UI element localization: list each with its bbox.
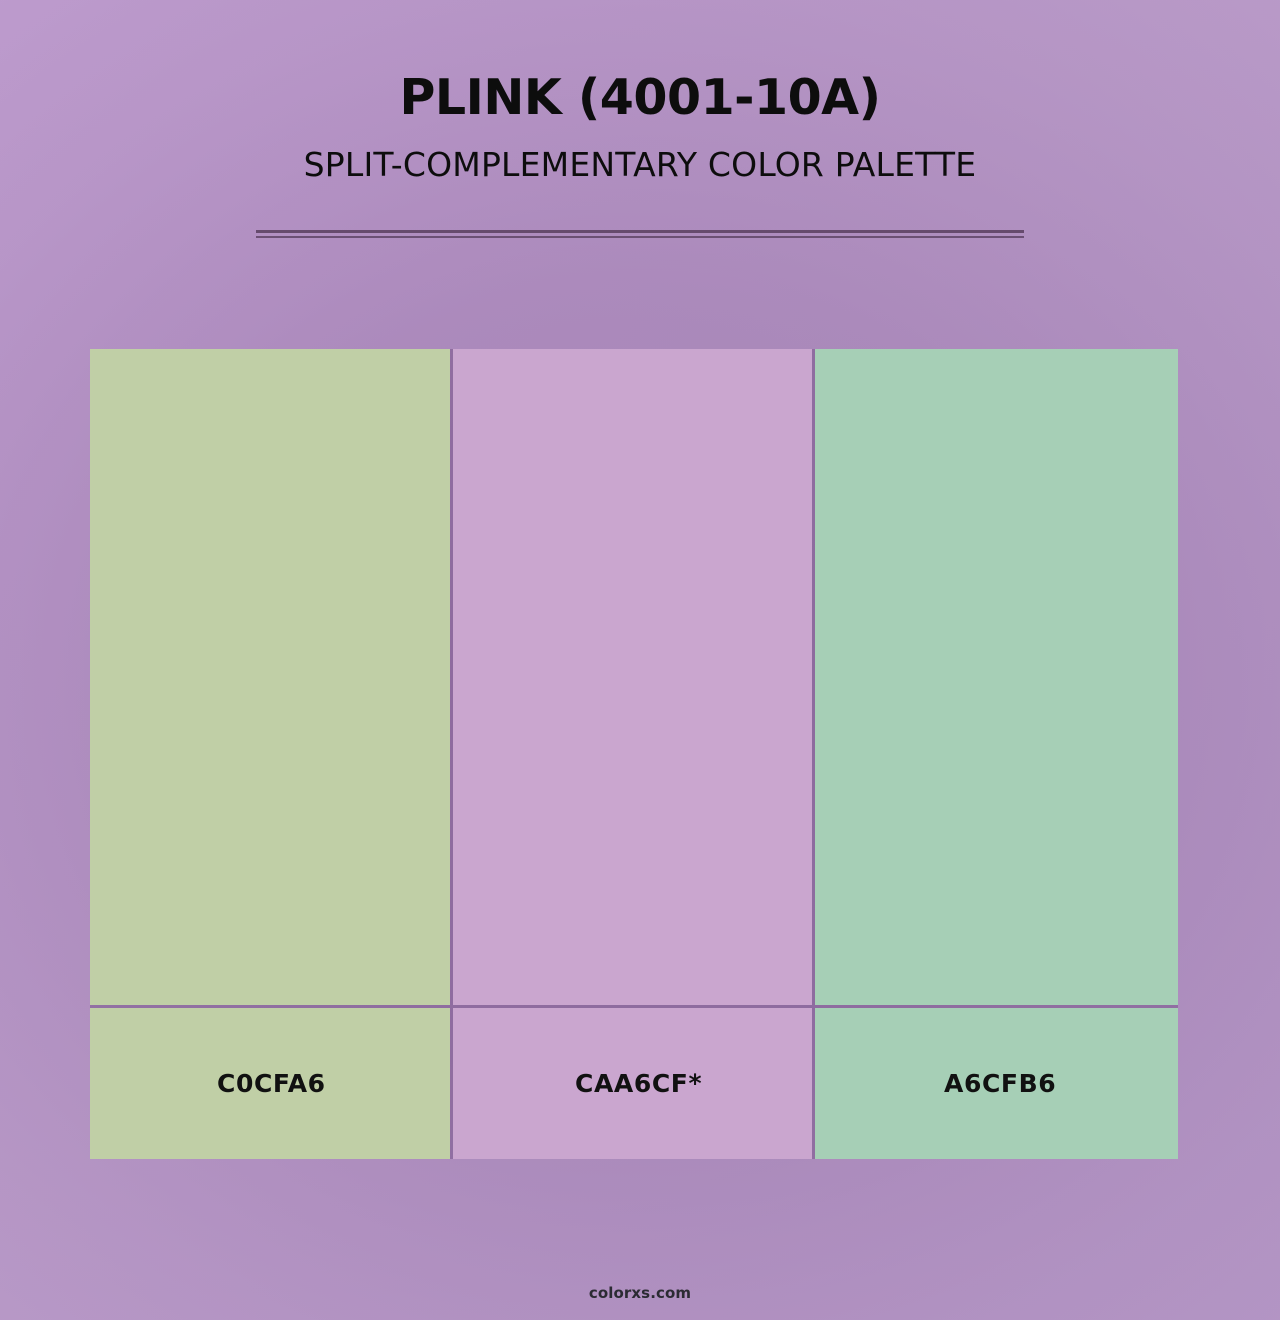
swatch-column-3: A6CFB6 — [815, 349, 1178, 1159]
color-swatch-3[interactable] — [815, 349, 1178, 1005]
divider-line-bottom — [256, 236, 1024, 238]
swatch-column-1: C0CFA6 — [90, 349, 450, 1159]
color-label-cell-3[interactable]: A6CFB6 — [815, 1008, 1178, 1159]
swatch-column-2: CAA6CF* — [453, 349, 812, 1159]
color-label-3: A6CFB6 — [944, 1069, 1056, 1098]
header-divider — [256, 230, 1024, 238]
color-palette: C0CFA6 CAA6CF* A6CFB6 — [90, 349, 1178, 1159]
color-label-2: CAA6CF* — [575, 1069, 702, 1098]
color-swatch-2[interactable] — [453, 349, 812, 1005]
color-swatch-1[interactable] — [90, 349, 450, 1005]
footer-site-name: colorxs.com — [589, 1284, 691, 1302]
divider-line-top — [256, 230, 1024, 233]
color-label-cell-2[interactable]: CAA6CF* — [453, 1008, 812, 1159]
page-footer: colorxs.com — [0, 1283, 1280, 1302]
color-label-1: C0CFA6 — [217, 1069, 326, 1098]
page-title: PLINK (4001-10A) — [0, 0, 1280, 124]
color-label-cell-1[interactable]: C0CFA6 — [90, 1008, 450, 1159]
page-subtitle: SPLIT-COMPLEMENTARY COLOR PALETTE — [0, 124, 1280, 183]
palette-page: PLINK (4001-10A) SPLIT-COMPLEMENTARY COL… — [0, 0, 1280, 1320]
page-header: PLINK (4001-10A) SPLIT-COMPLEMENTARY COL… — [0, 0, 1280, 183]
